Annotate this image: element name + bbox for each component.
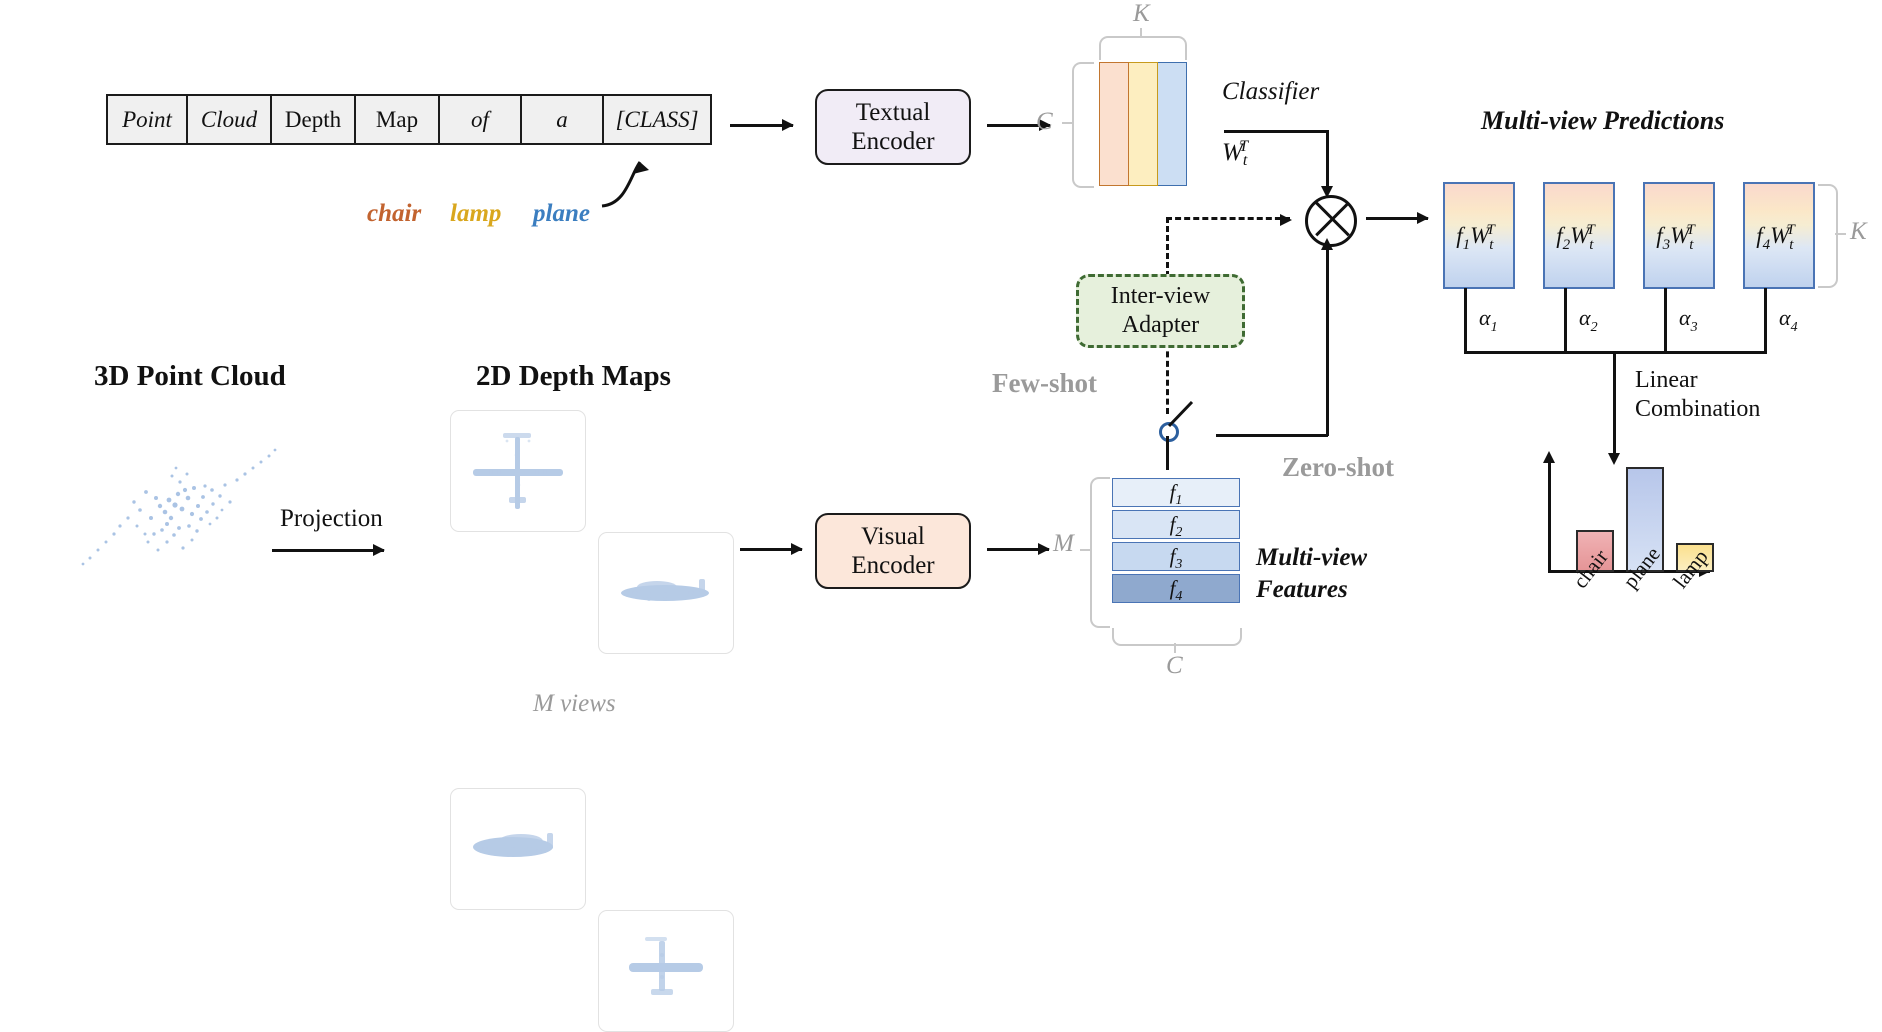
alpha-2-base: α (1579, 305, 1591, 330)
classifier-elbow-arrow-down (1326, 130, 1329, 187)
alpha-drop-3 (1664, 288, 1667, 353)
switch-lever-icon (1167, 400, 1197, 428)
zeroshot-elbow-arrow-up (1326, 249, 1329, 436)
prediction-1-wsub: t (1489, 237, 1493, 253)
alpha-drop-4 (1764, 288, 1767, 353)
features-title-line1: Multi-view (1256, 544, 1367, 571)
prediction-2-f: f (1556, 223, 1562, 248)
class-substitution-arrow (596, 140, 686, 212)
depth-map-tile-2[interactable] (598, 532, 734, 654)
prediction-2-wsup: T (1586, 222, 1594, 238)
depth-map-render-4 (599, 911, 733, 1031)
prediction-4-sub: 4 (1763, 237, 1771, 253)
chart-y-axis (1548, 462, 1551, 572)
projection-label: Projection (280, 505, 383, 533)
multi-view-features-stack: f1 f2 f3 f4 (1112, 478, 1240, 606)
point-cloud-visual (70, 430, 280, 580)
depth-map-grid (450, 410, 720, 670)
prompt-token-of: of (440, 96, 522, 143)
alpha-3-sub: 3 (1691, 320, 1698, 335)
depth-map-render-1 (451, 411, 585, 531)
depth-map-render-3 (451, 789, 585, 909)
classifier-weight-matrix (1099, 62, 1187, 184)
alpha-drop-1 (1464, 288, 1467, 353)
class-word-lamp: lamp (450, 200, 501, 228)
visual-encoder-label-line2: Encoder (851, 552, 934, 579)
classifier-weight-label: WtT (1222, 139, 1256, 167)
alpha-3-base: α (1679, 305, 1691, 330)
prompt-token-map: Map (356, 96, 440, 143)
prediction-4-wsup: T (1786, 222, 1794, 238)
class-word-chair: chair (367, 200, 421, 228)
classifier-weight-sup: T (1239, 138, 1248, 155)
alpha-label-4: α4 (1779, 305, 1798, 331)
classifier-title: Classifier (1222, 78, 1319, 106)
depth-map-render-2 (599, 533, 733, 653)
depth-map-tile-4[interactable] (598, 910, 734, 1032)
prediction-box-2: f2WtT (1543, 182, 1615, 289)
point-cloud-title: 3D Point Cloud (94, 360, 286, 393)
feature-row-4: f4 (1112, 574, 1240, 603)
arrow-visual-encoder-to-features (987, 548, 1049, 551)
inter-view-adapter-box[interactable]: Inter-view Adapter (1076, 274, 1245, 348)
alpha-label-3: α3 (1679, 305, 1698, 331)
features-brace-c (1112, 628, 1242, 646)
features-title-line2: Features (1256, 576, 1348, 603)
alpha-label-1: α1 (1479, 305, 1498, 331)
arrow-prompt-to-textual-encoder (730, 124, 793, 127)
predictions-title: Multi-view Predictions (1481, 106, 1724, 136)
alpha-1-base: α (1479, 305, 1491, 330)
feature-1-sub: 1 (1175, 493, 1182, 508)
alpha-1-sub: 1 (1491, 320, 1498, 335)
classifier-label-c: C (1036, 108, 1053, 136)
feature-row-3: f3 (1112, 542, 1240, 571)
prompt-token-class: [CLASS] (604, 96, 710, 143)
classifier-column-chair (1099, 62, 1129, 186)
adapter-dashed-arrow-to-product (1166, 217, 1290, 220)
linear-combination-arrow (1613, 351, 1616, 454)
prediction-box-1: f1WtT (1443, 182, 1515, 289)
predictions-brace-k (1818, 184, 1838, 288)
arrow-depth-maps-to-visual-encoder (740, 548, 802, 551)
alpha-4-sub: 4 (1791, 320, 1798, 335)
classifier-brace-c (1072, 62, 1094, 188)
depth-map-tile-3[interactable] (450, 788, 586, 910)
classifier-label-k: K (1133, 0, 1150, 28)
switch-stem-line (1166, 436, 1169, 470)
classifier-brace-k (1099, 36, 1187, 60)
prediction-box-3: f3WtT (1643, 182, 1715, 289)
features-brace-m (1090, 477, 1110, 628)
prediction-1-wsup: T (1486, 222, 1494, 238)
features-label-c: C (1166, 652, 1183, 680)
feature-2-sub: 2 (1175, 525, 1182, 540)
feature-row-2: f2 (1112, 510, 1240, 539)
prediction-2-wsub: t (1589, 237, 1593, 253)
alpha-4-base: α (1779, 305, 1791, 330)
linear-combination-label: Linear Combination (1635, 366, 1760, 425)
prompt-token-cloud: Cloud (188, 96, 272, 143)
alpha-label-2: α2 (1579, 305, 1598, 331)
prediction-3-wsup: T (1686, 222, 1694, 238)
zero-shot-label: Zero-shot (1282, 452, 1394, 483)
arrow-product-to-predictions (1366, 217, 1428, 220)
few-shot-label: Few-shot (992, 368, 1097, 399)
adapter-label-line1: Inter-view (1111, 283, 1210, 309)
feature-4-sub: 4 (1175, 589, 1182, 604)
depth-maps-title: 2D Depth Maps (476, 360, 671, 393)
features-brace-m-tick (1080, 549, 1091, 551)
visual-encoder-label-line1: Visual (861, 523, 925, 550)
predictions-brace-k-tick (1835, 233, 1846, 235)
textual-encoder-label-line1: Textual (856, 99, 931, 126)
prediction-3-f: f (1656, 223, 1662, 248)
prediction-3-wsub: t (1689, 237, 1693, 253)
prompt-token-point: Point (108, 96, 188, 143)
arrow-projection (272, 549, 384, 552)
class-word-plane: plane (533, 200, 590, 228)
features-title: Multi-view Features (1256, 542, 1367, 605)
prediction-3-sub: 3 (1663, 237, 1671, 253)
classifier-column-lamp (1129, 62, 1158, 186)
predictions-label-k: K (1850, 218, 1867, 246)
adapter-dashed-line-vertical (1166, 217, 1169, 277)
prediction-1-sub: 1 (1463, 237, 1471, 253)
alpha-drop-2 (1564, 288, 1567, 353)
depth-map-tile-1[interactable] (450, 410, 586, 532)
alpha-2-sub: 2 (1591, 320, 1598, 335)
prediction-2-sub: 2 (1563, 237, 1571, 253)
textual-encoder-label-line2: Encoder (851, 128, 934, 155)
prompt-token-row: Point Cloud Depth Map of a [CLASS] (106, 94, 712, 145)
prediction-box-4: f4WtT (1743, 182, 1815, 289)
prediction-1-f: f (1456, 223, 1462, 248)
linear-combination-line1: Linear (1635, 367, 1698, 393)
views-caption: M views (533, 690, 616, 718)
classifier-elbow-horizontal (1224, 130, 1328, 133)
adapter-label-line2: Adapter (1122, 312, 1199, 338)
linear-combination-line2: Combination (1635, 396, 1760, 422)
features-label-m: M (1053, 530, 1074, 558)
visual-encoder-box: Visual Encoder (815, 513, 971, 589)
prediction-4-f: f (1756, 223, 1762, 248)
prompt-token-depth: Depth (272, 96, 356, 143)
prompt-token-a: a (522, 96, 604, 143)
zeroshot-elbow-horizontal (1216, 434, 1328, 437)
textual-encoder-box: Textual Encoder (815, 89, 971, 165)
classifier-brace-k-tick (1140, 28, 1142, 38)
feature-row-1: f1 (1112, 478, 1240, 507)
feature-3-sub: 3 (1175, 557, 1182, 572)
prediction-4-wsub: t (1789, 237, 1793, 253)
classifier-column-plane (1158, 62, 1187, 186)
classifier-brace-c-tick (1062, 122, 1073, 124)
